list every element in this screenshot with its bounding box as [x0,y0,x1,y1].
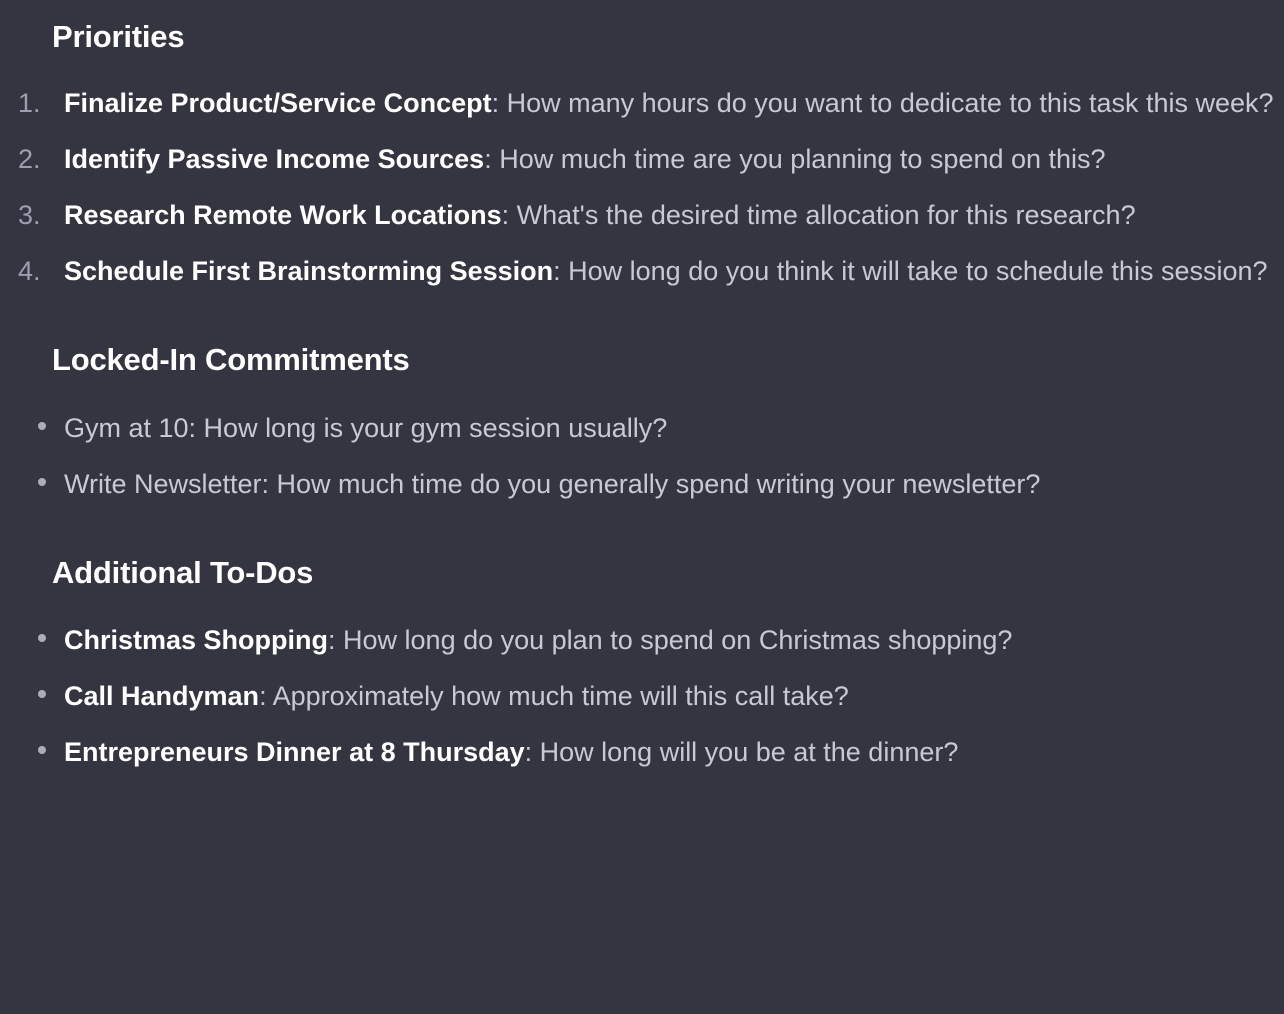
list-item-title: Identify Passive Income Sources [64,144,484,174]
priorities-ordered-list: 1.Finalize Product/Service Concept: How … [0,75,1284,299]
list-item-question: : How long will you be at the dinner? [525,737,959,767]
additional-to-dos-list: Christmas Shopping: How long do you plan… [0,612,1284,780]
spacer [0,380,1284,400]
list-item-question: Write Newsletter: How much time do you g… [64,469,1040,499]
assistant-message-panel: Priorities 1.Finalize Product/Service Co… [0,0,1284,1014]
list-item: Write Newsletter: How much time do you g… [0,456,1284,512]
list-item-question: : What's the desired time allocation for… [502,200,1136,230]
list-item-title: Entrepreneurs Dinner at 8 Thursday [64,737,525,767]
list-marker: 4. [18,243,56,299]
bullet-icon [38,690,46,698]
list-item-title: Call Handyman [64,681,259,711]
list-marker: 2. [18,131,56,187]
list-item-title: Research Remote Work Locations [64,200,502,230]
list-item-question: : How long do you think it will take to … [553,256,1267,286]
list-item: Entrepreneurs Dinner at 8 Thursday: How … [0,724,1284,780]
section-heading-locked-in-commitments: Locked-In Commitments [0,341,1284,380]
list-item: 2.Identify Passive Income Sources: How m… [0,131,1284,187]
list-item-question: Gym at 10: How long is your gym session … [64,413,667,443]
list-item-question: : How long do you plan to spend on Chris… [328,625,1012,655]
bullet-icon [38,746,46,754]
section-heading-priorities: Priorities [0,0,1284,57]
list-item: Call Handyman: Approximately how much ti… [0,668,1284,724]
list-item: Gym at 10: How long is your gym session … [0,400,1284,456]
list-marker: 3. [18,187,56,243]
list-item-title: Christmas Shopping [64,625,328,655]
bullet-icon [38,422,46,430]
list-item-title: Finalize Product/Service Concept [64,88,492,118]
list-item-question: : How many hours do you want to dedicate… [492,88,1274,118]
list-marker: 1. [18,75,56,131]
spacer [0,592,1284,612]
spacer [0,512,1284,554]
section-priorities: Priorities 1.Finalize Product/Service Co… [0,0,1284,299]
list-item-title: Schedule First Brainstorming Session [64,256,553,286]
bullet-icon [38,634,46,642]
list-item: Christmas Shopping: How long do you plan… [0,612,1284,668]
list-item: 1.Finalize Product/Service Concept: How … [0,75,1284,131]
spacer [0,57,1284,75]
section-locked-in-commitments: Locked-In Commitments Gym at 10: How lon… [0,341,1284,512]
list-item-question: : How much time are you planning to spen… [484,144,1105,174]
section-heading-additional-to-dos: Additional To-Dos [0,554,1284,593]
locked-in-commitments-list: Gym at 10: How long is your gym session … [0,400,1284,512]
section-additional-to-dos: Additional To-Dos Christmas Shopping: Ho… [0,554,1284,781]
list-item-question: : Approximately how much time will this … [259,681,849,711]
list-item: 3.Research Remote Work Locations: What's… [0,187,1284,243]
spacer [0,299,1284,341]
list-item: 4.Schedule First Brainstorming Session: … [0,243,1284,299]
bullet-icon [38,478,46,486]
